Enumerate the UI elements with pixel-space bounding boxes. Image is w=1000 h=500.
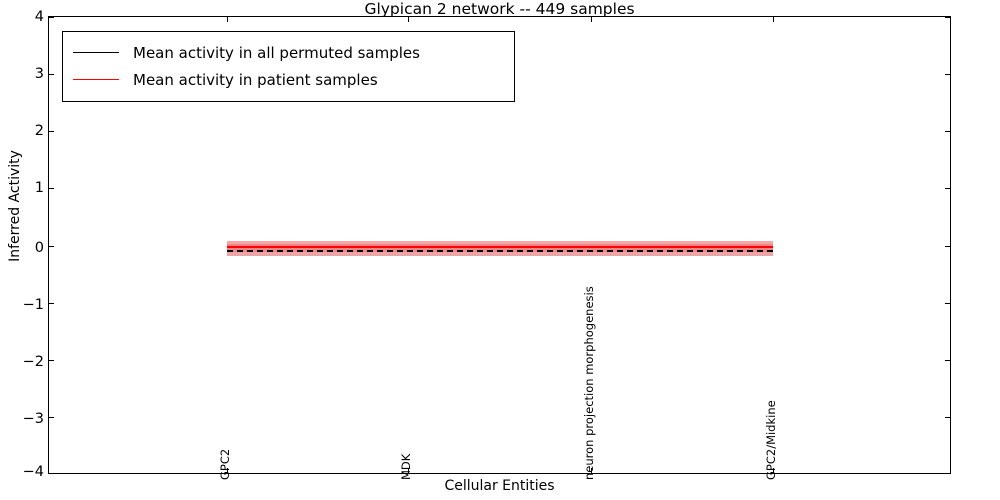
y-tick-label-2: 2 [35, 124, 44, 138]
legend: Mean activity in all permuted samples Me… [62, 31, 515, 102]
x-tick-label-gpc2: GPC2 [220, 449, 231, 480]
y-tick-0 [49, 246, 54, 247]
y-tick-label-neg4: −4 [23, 465, 44, 479]
x-tick-top-gpc2-midkine [773, 17, 774, 22]
y-tick-right-neg1 [945, 303, 950, 304]
y-tick-right-2 [945, 131, 950, 132]
x-axis-title: Cellular Entities [48, 478, 951, 494]
patient-samples-mean-line [227, 246, 773, 248]
y-tick-right-neg2 [945, 360, 950, 361]
y-tick-right-0 [945, 246, 950, 247]
x-tick-label-gpc2-midkine: GPC2/Midkine [766, 400, 777, 480]
y-tick-neg2 [49, 360, 54, 361]
x-tick-top-gpc2 [227, 17, 228, 22]
y-tick-neg1 [49, 303, 54, 304]
matplotlib-figure: Glypican 2 network -- 449 samples Inferr… [0, 0, 1000, 500]
x-tick-label-mdk: MDK [401, 454, 412, 480]
plot-area: Mean activity in all permuted samples Me… [48, 16, 951, 474]
y-tick-right-1 [945, 188, 950, 189]
permuted-samples-mean-line [227, 250, 773, 252]
y-tick-label-neg3: −3 [23, 412, 44, 426]
y-tick-4 [49, 17, 54, 18]
y-tick-label-neg2: −2 [23, 355, 44, 369]
y-axis-title: Inferred Activity [7, 106, 23, 306]
y-tick-neg3 [49, 417, 54, 418]
y-tick-label-4: 4 [35, 10, 44, 24]
legend-label-permuted: Mean activity in all permuted samples [133, 44, 420, 62]
y-tick-label-3: 3 [35, 67, 44, 81]
legend-label-patient: Mean activity in patient samples [133, 71, 378, 89]
y-tick-1 [49, 188, 54, 189]
y-tick-right-4 [945, 17, 950, 18]
x-tick-top-neuron-projection-morphogenesis [591, 17, 592, 22]
y-tick-label-1: 1 [35, 181, 44, 195]
legend-line-icon-permuted [73, 52, 119, 53]
y-tick-label-0: 0 [35, 241, 44, 255]
x-tick-label-neuron-projection-morphogenesis: neuron projection morphogenesis [584, 286, 595, 480]
y-tick-label-neg1: −1 [23, 298, 44, 312]
y-tick-right-neg3 [945, 417, 950, 418]
legend-entry-permuted: Mean activity in all permuted samples [73, 39, 504, 66]
y-tick-right-3 [945, 74, 950, 75]
x-tick-top-mdk [408, 17, 409, 22]
legend-entry-patient: Mean activity in patient samples [73, 66, 504, 93]
legend-line-icon-patient [73, 79, 119, 80]
y-tick-2 [49, 131, 54, 132]
plot-inner: Mean activity in all permuted samples Me… [49, 17, 950, 473]
y-tick-3 [49, 74, 54, 75]
